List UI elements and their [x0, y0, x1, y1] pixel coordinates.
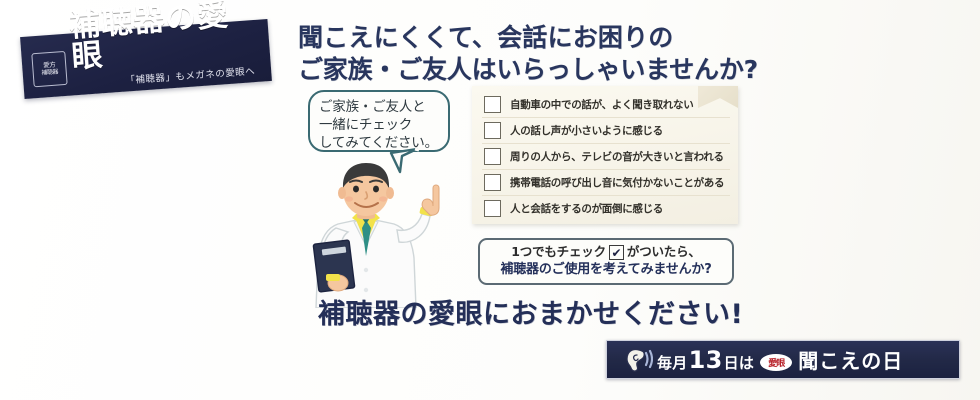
brand-logo-texts: 補聴器の愛眼 「補聴器」もメガネの愛眼へ [68, 0, 261, 90]
conclusion-text-after: がついたら、 [627, 244, 701, 261]
banner-suffix: 聞こえの日 [798, 345, 903, 374]
checklist-item-label: 携帯電話の呼び出し音に気付かないことがある [510, 175, 724, 190]
checklist-item[interactable]: 自動車の中での話が、よく聞き取れない [482, 92, 730, 118]
check-mark-icon: ✔ [609, 245, 624, 260]
aigan-badge: 愛眼 [760, 354, 792, 371]
checklist-item[interactable]: 人と会話をするのが面倒に感じる [482, 196, 730, 221]
conclusion-callout-box: 1つでもチェック ✔ がついたら、 補聴器のご使用を考えてみませんか? [478, 238, 734, 285]
speech-bubble-text: ご家族・ご友人と 一緒にチェック してみてください。 [319, 99, 442, 152]
brand-emblem-icon: 愛方 補聴器 [31, 51, 67, 87]
hearing-day-banner: 毎月 13 日は 愛眼 聞こえの日 [606, 340, 960, 379]
brand-logo-inner: 愛方 補聴器 補聴器の愛眼 「補聴器」もメガネの愛眼へ [20, 19, 272, 99]
checklist-item-label: 人と会話をするのが面倒に感じる [510, 201, 663, 216]
brand-logo-title: 補聴器の愛眼 [68, 0, 260, 74]
hearing-specialist-illustration [296, 158, 466, 308]
conclusion-text-before: 1つでもチェック [511, 244, 606, 261]
checkbox-5[interactable] [484, 200, 501, 217]
checklist-item-label: 周りの人から、テレビの音が大きいと言われる [510, 149, 724, 164]
ear-with-soundwaves-icon [623, 346, 653, 374]
headline-line-1: 聞こえにくくて、会話にお困りの [298, 22, 758, 54]
conclusion-line-1: 1つでもチェック ✔ がついたら、 [511, 244, 700, 261]
advertisement-page: 愛方 補聴器 補聴器の愛眼 「補聴器」もメガネの愛眼へ 聞こえにくくて、会話にお… [0, 0, 980, 400]
brand-emblem-bottom-label: 補聴器 [41, 70, 58, 77]
checkbox-3[interactable] [484, 148, 501, 165]
banner-prefix: 毎月 [657, 352, 688, 373]
banner-day-unit: 日は [724, 352, 755, 373]
checkbox-1[interactable] [484, 96, 501, 113]
speech-bubble: ご家族・ご友人と 一緒にチェック してみてください。 [308, 90, 450, 152]
conclusion-line-2: 補聴器のご使用を考えてみませんか? [500, 261, 711, 279]
checklist-item[interactable]: 周りの人から、テレビの音が大きいと言われる [482, 144, 730, 170]
symptom-checklist-panel: 自動車の中での話が、よく聞き取れない 人の話し声が小さいように感じる 周りの人か… [472, 86, 738, 224]
checkbox-2[interactable] [484, 122, 501, 139]
checkbox-4[interactable] [484, 174, 501, 191]
checklist-item[interactable]: 携帯電話の呼び出し音に気付かないことがある [482, 170, 730, 196]
brand-logo-plate: 愛方 補聴器 補聴器の愛眼 「補聴器」もメガネの愛眼へ [20, 19, 272, 99]
checklist-item-label: 人の話し声が小さいように感じる [510, 123, 663, 138]
headline-line-2: ご家族・ご友人はいらっしゃいませんか? [298, 54, 758, 86]
banner-day-number: 13 [689, 346, 723, 374]
checklist-item[interactable]: 人の話し声が小さいように感じる [482, 118, 730, 144]
banner-text: 毎月 13 日は 愛眼 聞こえの日 [657, 345, 903, 374]
brand-emblem-top-label: 愛方 [43, 61, 55, 68]
tagline: 補聴器の愛眼におまかせください! [318, 292, 743, 331]
checklist-item-label: 自動車の中での話が、よく聞き取れない [510, 97, 693, 112]
headline: 聞こえにくくて、会話にお困りの ご家族・ご友人はいらっしゃいませんか? [298, 22, 758, 86]
